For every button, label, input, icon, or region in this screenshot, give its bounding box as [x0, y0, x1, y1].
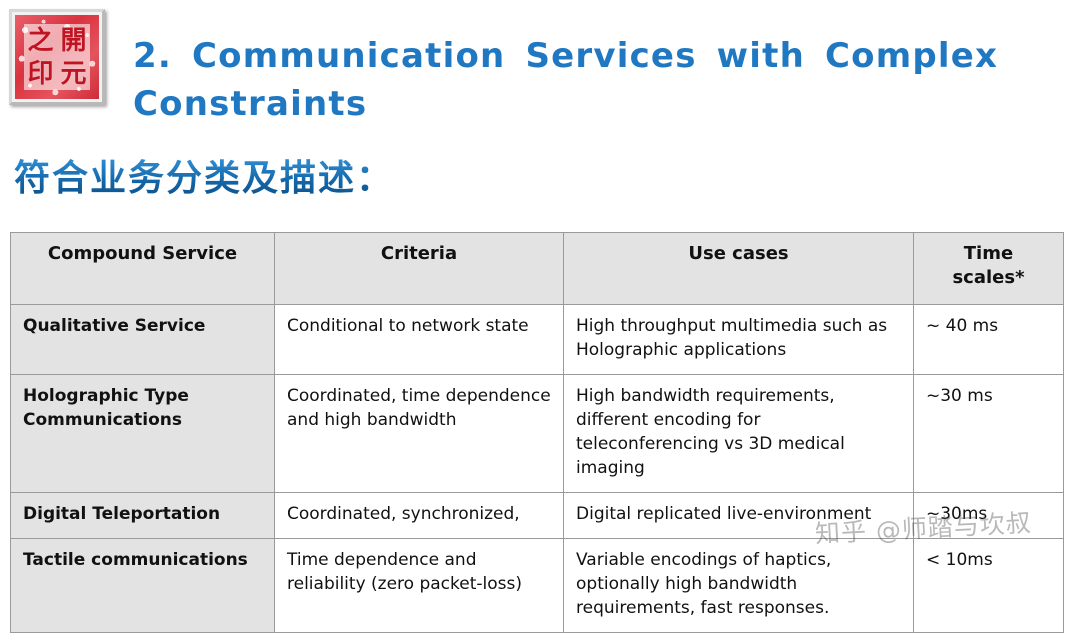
cell-service: Digital Teleportation	[11, 493, 275, 539]
cell-service: Holographic Type Communications	[11, 375, 275, 493]
cell-use-cases: Digital replicated live-environment	[564, 493, 914, 539]
table-row: Holographic Type Communications Coordina…	[11, 375, 1064, 493]
table-row: Tactile communications Time dependence a…	[11, 539, 1064, 633]
table-row: Qualitative Service Conditional to netwo…	[11, 305, 1064, 375]
cell-service: Tactile communications	[11, 539, 275, 633]
cell-time-scale: ~30 ms	[914, 375, 1064, 493]
cell-use-cases: High throughput multimedia such as Holog…	[564, 305, 914, 375]
seal-char-yuan: 元	[57, 57, 90, 90]
slide-subtitle-chinese: 符合业务分类及描述：	[14, 158, 394, 200]
cell-criteria: Time dependence and reliability (zero pa…	[275, 539, 564, 633]
table-header-row: Compound Service Criteria Use cases Time…	[11, 233, 1064, 305]
cell-service: Qualitative Service	[11, 305, 275, 375]
cell-criteria: Conditional to network state	[275, 305, 564, 375]
slide-title-english: 2. Communication Services with Complex C…	[133, 32, 1033, 128]
column-header-time-scales: Time scales*	[914, 233, 1064, 305]
cell-use-cases: High bandwidth requirements, different e…	[564, 375, 914, 493]
seal-char-yin: 印	[24, 57, 57, 90]
seal-char-kai: 開	[57, 24, 90, 57]
column-header-compound-service: Compound Service	[11, 233, 275, 305]
cell-time-scale: < 10ms	[914, 539, 1064, 633]
table-row: Digital Teleportation Coordinated, synch…	[11, 493, 1064, 539]
seal-character-grid: 之 開 印 元	[24, 24, 90, 90]
cell-criteria: Coordinated, synchronized,	[275, 493, 564, 539]
table-header: Compound Service Criteria Use cases Time…	[11, 233, 1064, 305]
cell-time-scale: ~30ms	[914, 493, 1064, 539]
table-body: Qualitative Service Conditional to netwo…	[11, 305, 1064, 633]
cell-time-scale: ~ 40 ms	[914, 305, 1064, 375]
seal-char-zhi: 之	[24, 24, 57, 57]
column-header-use-cases: Use cases	[564, 233, 914, 305]
column-header-criteria: Criteria	[275, 233, 564, 305]
chinese-seal-logo: 之 開 印 元	[9, 9, 105, 105]
cell-use-cases: Variable encodings of haptics, optionall…	[564, 539, 914, 633]
cell-criteria: Coordinated, time dependence and high ba…	[275, 375, 564, 493]
seal-texture: 之 開 印 元	[15, 15, 99, 99]
